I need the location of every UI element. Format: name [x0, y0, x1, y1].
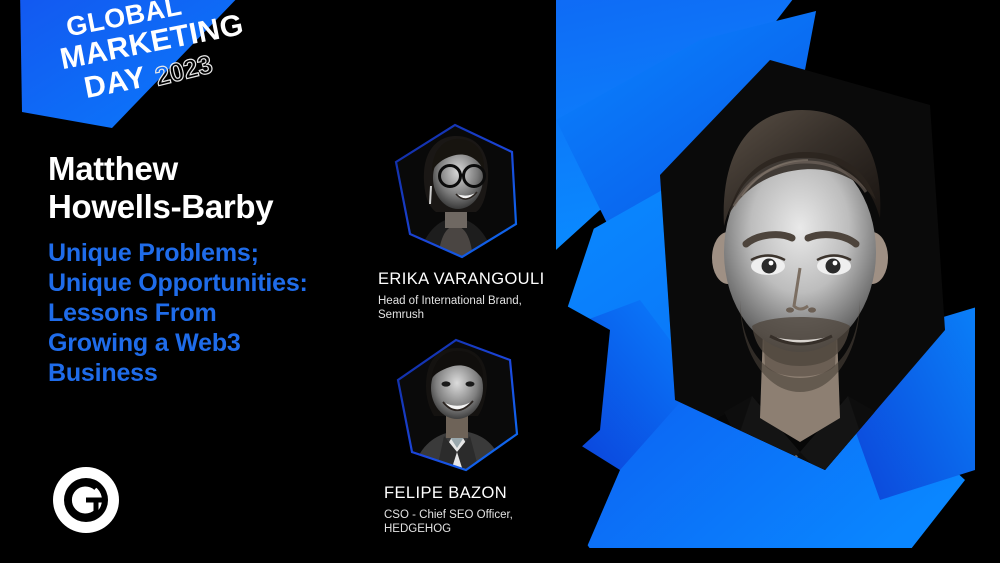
- host-2-role: CSO - Chief SEO Officer, HEDGEHOG: [384, 508, 568, 536]
- speaker-info-block: Matthew Howells-Barby Unique Problems; U…: [48, 150, 378, 388]
- speaker-name: Matthew Howells-Barby: [48, 150, 378, 226]
- host-1-role-line2: Semrush: [378, 308, 568, 322]
- talk-title-line2: Unique Opportunities:: [48, 268, 378, 298]
- host-1-role: Head of International Brand, Semrush: [378, 294, 568, 322]
- talk-title: Unique Problems; Unique Opportunities: L…: [48, 238, 378, 388]
- host-2-avatar: [390, 336, 520, 474]
- host-1-name: ERIKA VARANGOULI: [378, 270, 568, 289]
- talk-title-line5: Business: [48, 358, 378, 388]
- speaker-name-line2: Howells-Barby: [48, 188, 378, 226]
- talk-title-line3: Lessons From: [48, 298, 378, 328]
- cg-monogram-logo: [52, 466, 120, 534]
- speaker-name-line1: Matthew: [48, 150, 378, 188]
- talk-title-line4: Growing a Web3: [48, 328, 378, 358]
- host-1-portrait: [390, 122, 520, 260]
- host-2-role-line2: HEDGEHOG: [384, 522, 568, 536]
- host-card-2: FELIPE BAZON CSO - Chief SEO Officer, HE…: [378, 336, 568, 536]
- monogram-crossbar: [93, 498, 105, 503]
- host-1-role-line1: Head of International Brand,: [378, 294, 568, 308]
- host-2-role-line1: CSO - Chief SEO Officer,: [384, 508, 568, 522]
- main-portrait-clip: [600, 0, 1000, 563]
- host-2-name: FELIPE BAZON: [384, 484, 568, 503]
- host-1-avatar: [390, 122, 520, 260]
- main-speaker-photo: [600, 0, 1000, 563]
- talk-title-line1: Unique Problems;: [48, 238, 378, 268]
- host-card-1: ERIKA VARANGOULI Head of International B…: [378, 122, 568, 322]
- hosts-column: ERIKA VARANGOULI Head of International B…: [378, 122, 568, 540]
